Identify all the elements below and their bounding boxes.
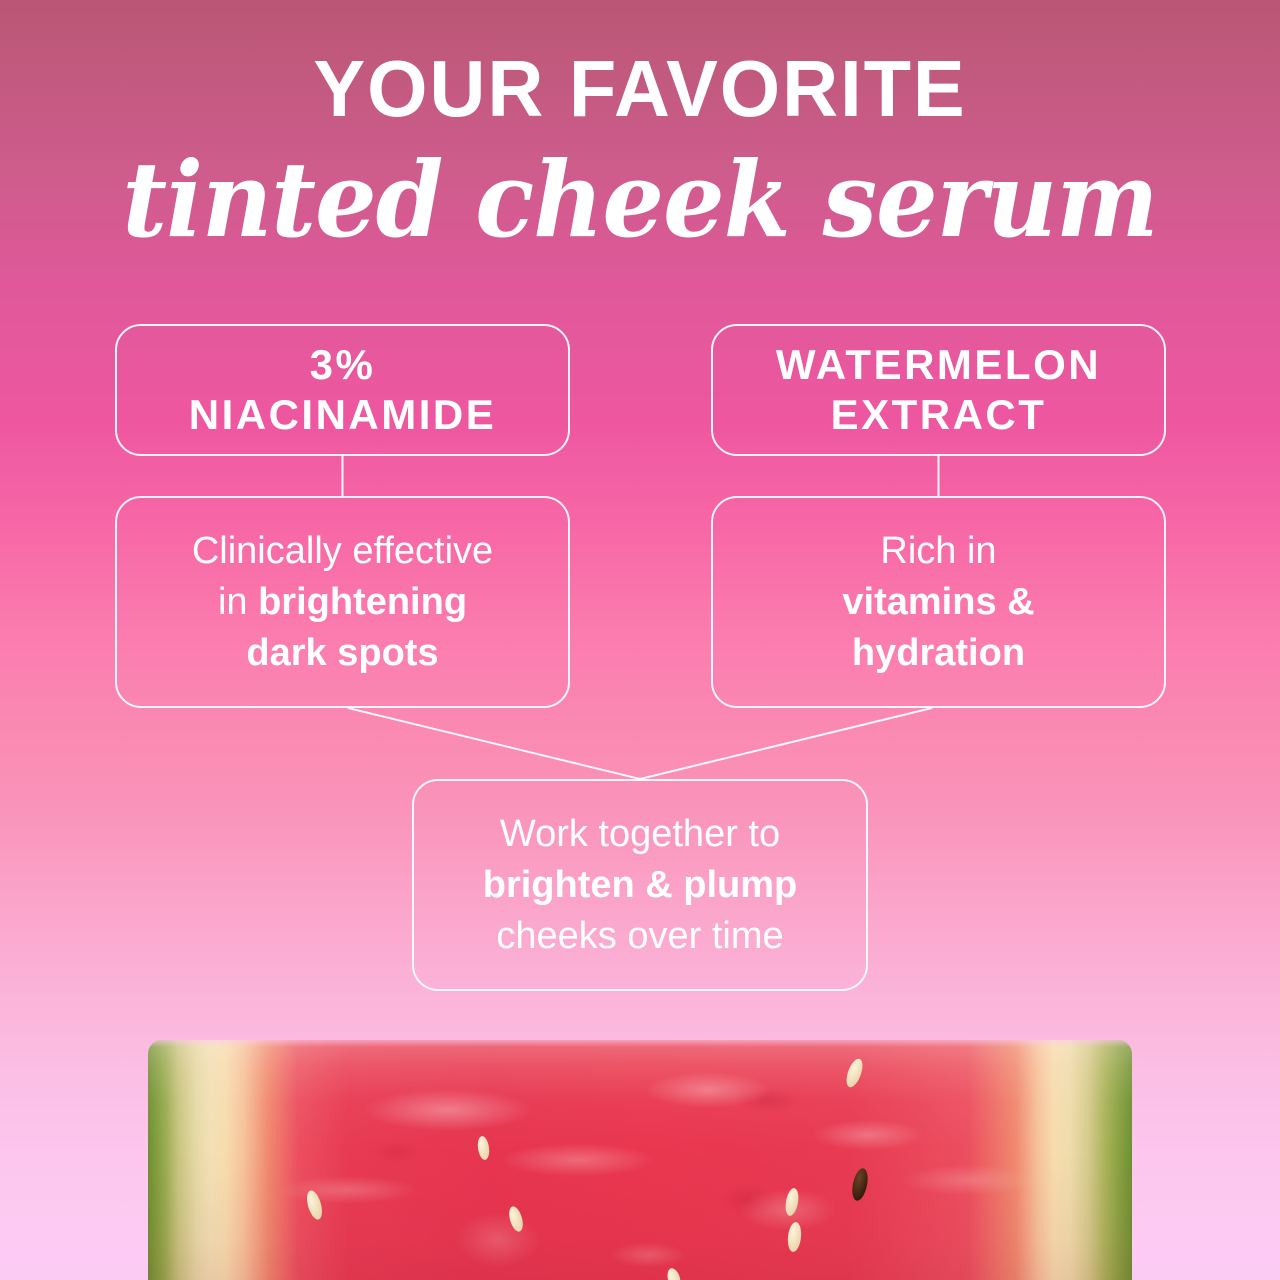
- benefit-right-emphasis-2: hydration: [852, 632, 1025, 674]
- benefit-card-niacinamide: Clinically effective in brightening dark…: [115, 496, 570, 708]
- ingredient-niacinamide-line-1: 3%: [189, 340, 497, 390]
- combined-line-3: cheeks over time: [483, 911, 798, 962]
- headline-line-1: YOUR FAVORITE: [19, 46, 1261, 132]
- combined-emphasis: brighten & plump: [483, 864, 798, 906]
- ingredient-watermelon-line-1: WATERMELON: [776, 340, 1101, 390]
- ingredient-card-niacinamide: 3% NIACINAMIDE: [115, 324, 570, 456]
- benefit-right-line-1: Rich in: [842, 526, 1034, 577]
- watermelon-slice-image: [148, 1040, 1132, 1280]
- benefit-left-line-3: dark spots: [192, 628, 493, 679]
- ingredient-card-watermelon-extract: WATERMELON EXTRACT: [711, 324, 1166, 456]
- ingredient-watermelon-line-2: EXTRACT: [776, 390, 1101, 440]
- combined-outcome-card: Work together to brighten & plump cheeks…: [412, 779, 868, 991]
- ingredient-niacinamide-line-2: NIACINAMIDE: [189, 390, 497, 440]
- benefit-right-line-3: hydration: [842, 628, 1034, 679]
- page-title: YOUR FAVORITE tinted cheek serum: [0, 46, 1280, 260]
- combined-line-2: brighten & plump: [483, 860, 798, 911]
- benefit-left-emphasis-1: brightening: [258, 581, 467, 623]
- watermelon-top-edge: [148, 1040, 1132, 1280]
- headline-line-2: tinted cheek serum: [45, 140, 1235, 260]
- infographic-canvas: YOUR FAVORITE tinted cheek serum 3% NIAC…: [0, 0, 1280, 1280]
- benefit-card-watermelon-extract: Rich in vitamins & hydration: [711, 496, 1166, 708]
- benefit-left-line-2: in brightening: [192, 577, 493, 628]
- benefit-left-emphasis-2: dark spots: [246, 632, 438, 674]
- combined-line-1: Work together to: [483, 809, 798, 860]
- benefit-right-line-2: vitamins &: [842, 577, 1034, 628]
- benefit-left-connector: in: [218, 581, 258, 623]
- benefit-right-emphasis-1: vitamins &: [842, 581, 1034, 623]
- benefit-left-line-1: Clinically effective: [192, 526, 493, 577]
